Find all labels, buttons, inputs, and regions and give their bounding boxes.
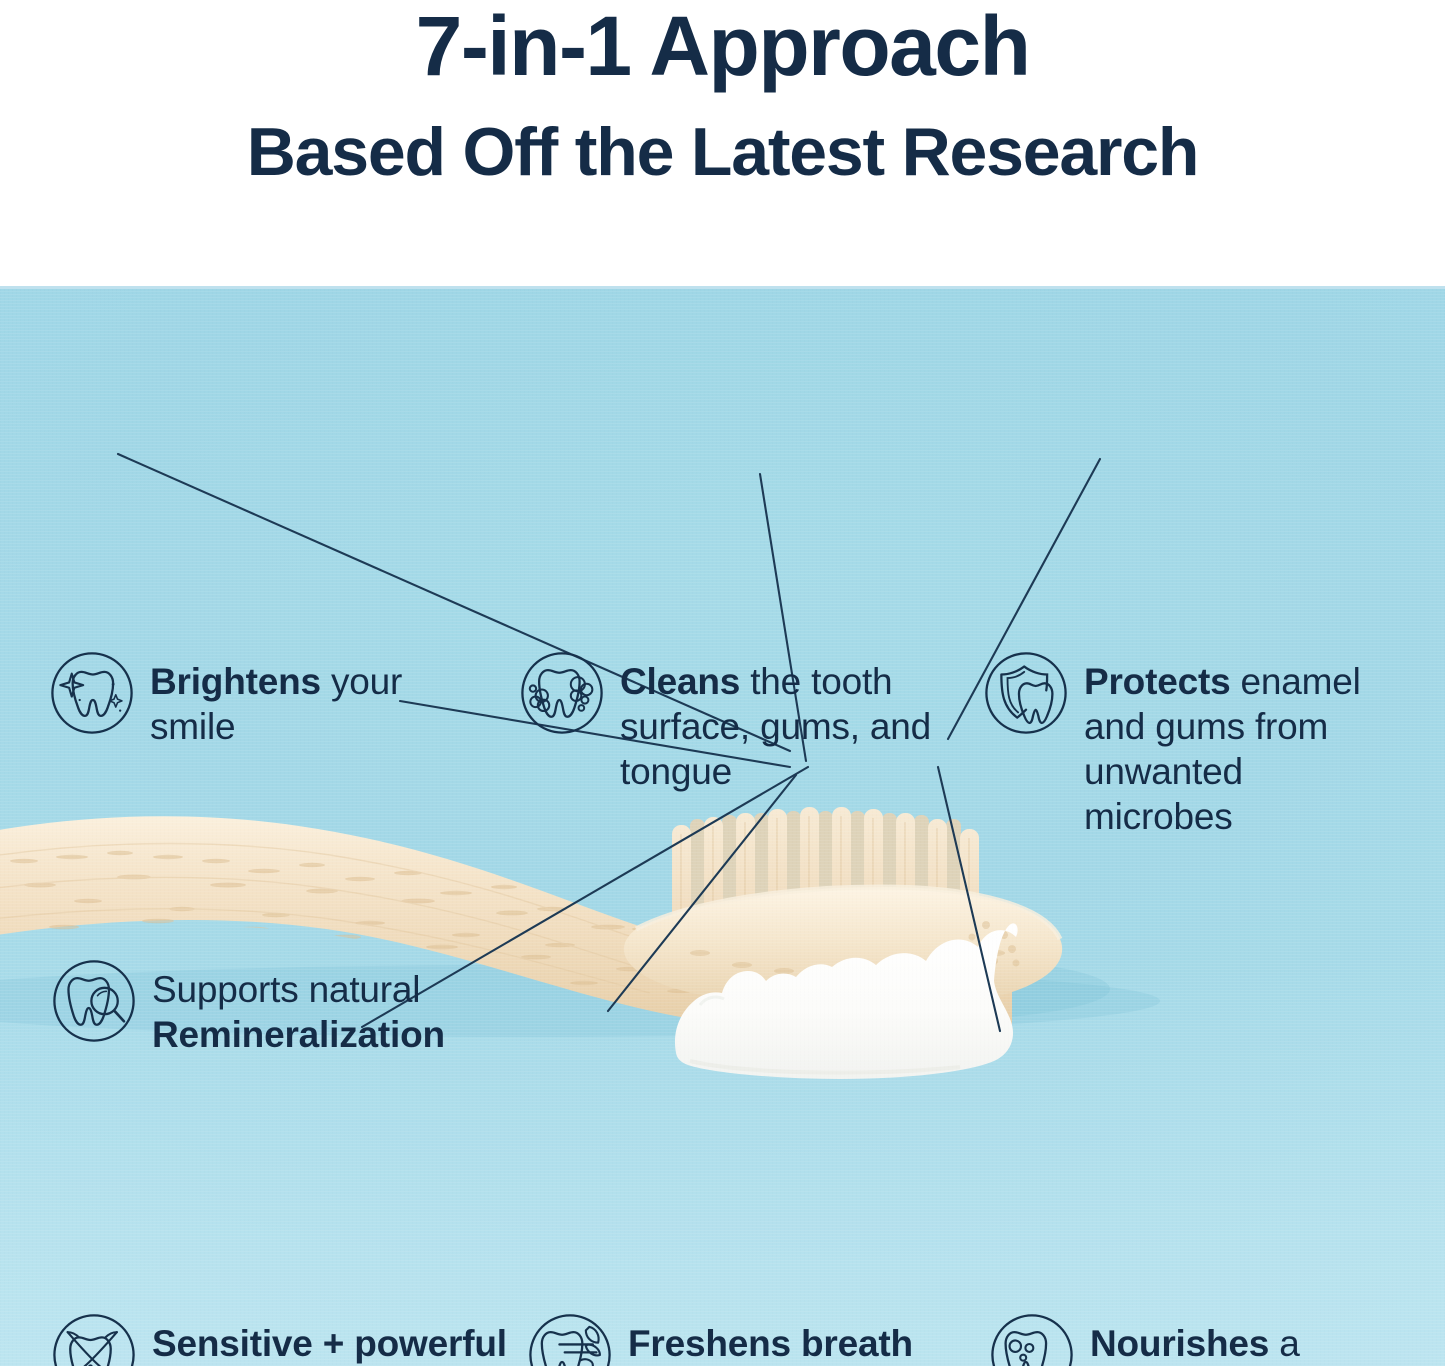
feature-sensitive-bold: Sensitive + powerful — [152, 1323, 507, 1364]
feature-remineralization-text: Supports natural Remineralization — [152, 953, 552, 1057]
feature-remineralization: Supports natural Remineralization — [50, 953, 552, 1057]
tooth-microbes-icon — [988, 1311, 1076, 1366]
shield-tooth-icon — [982, 649, 1070, 737]
tooth-mint-leaf-icon — [526, 1311, 614, 1366]
tooth-bubbles-icon — [518, 649, 606, 737]
feature-nourishes-bold: Nourishes — [1090, 1323, 1269, 1364]
feature-brightens-text: Brightens your smile — [150, 645, 480, 749]
feature-cleans-text: Cleans the tooth surface, gums, and tong… — [620, 645, 940, 794]
tooth-magnifier-icon — [50, 957, 138, 1045]
feature-nourishes-text: Nourishes a healthy oral microbiome — [1090, 1307, 1410, 1366]
feature-freshens-text: Freshens breath without harsh, artificia… — [628, 1307, 973, 1366]
feature-brightens-bold: Brightens — [150, 661, 321, 702]
feature-protects: Protects enamel and gums from unwanted m… — [982, 645, 1394, 840]
feature-cleans: Cleans the tooth surface, gums, and tong… — [518, 645, 940, 794]
feature-protects-bold: Protects — [1084, 661, 1230, 702]
feature-sensitive-text: Sensitive + powerful formula designed to… — [152, 1307, 542, 1366]
feature-remineralization-prefix: Supports natural — [152, 969, 420, 1010]
feature-freshens: Freshens breath without harsh, artificia… — [526, 1307, 973, 1366]
feature-cleans-bold: Cleans — [620, 661, 740, 702]
header: 7-in-1 Approach Based Off the Latest Res… — [0, 0, 1445, 288]
feature-brightens: Brightens your smile — [48, 645, 480, 749]
feature-freshens-bold: Freshens breath — [628, 1323, 913, 1364]
product-photo-panel: Brightens your smile — [0, 289, 1445, 1366]
tooth-sensitivity-icon — [50, 1311, 138, 1366]
feature-nourishes: Nourishes a healthy oral microbiome — [988, 1307, 1410, 1366]
page-subtitle: Based Off the Latest Research — [247, 115, 1199, 190]
feature-protects-text: Protects enamel and gums from unwanted m… — [1084, 645, 1394, 840]
feature-remineralization-bold: Remineralization — [152, 1014, 445, 1055]
page-title: 7-in-1 Approach — [416, 2, 1030, 91]
infographic-page: 7-in-1 Approach Based Off the Latest Res… — [0, 0, 1445, 1366]
tooth-sparkle-icon — [48, 649, 136, 737]
feature-sensitive: Sensitive + powerful formula designed to… — [50, 1307, 542, 1366]
